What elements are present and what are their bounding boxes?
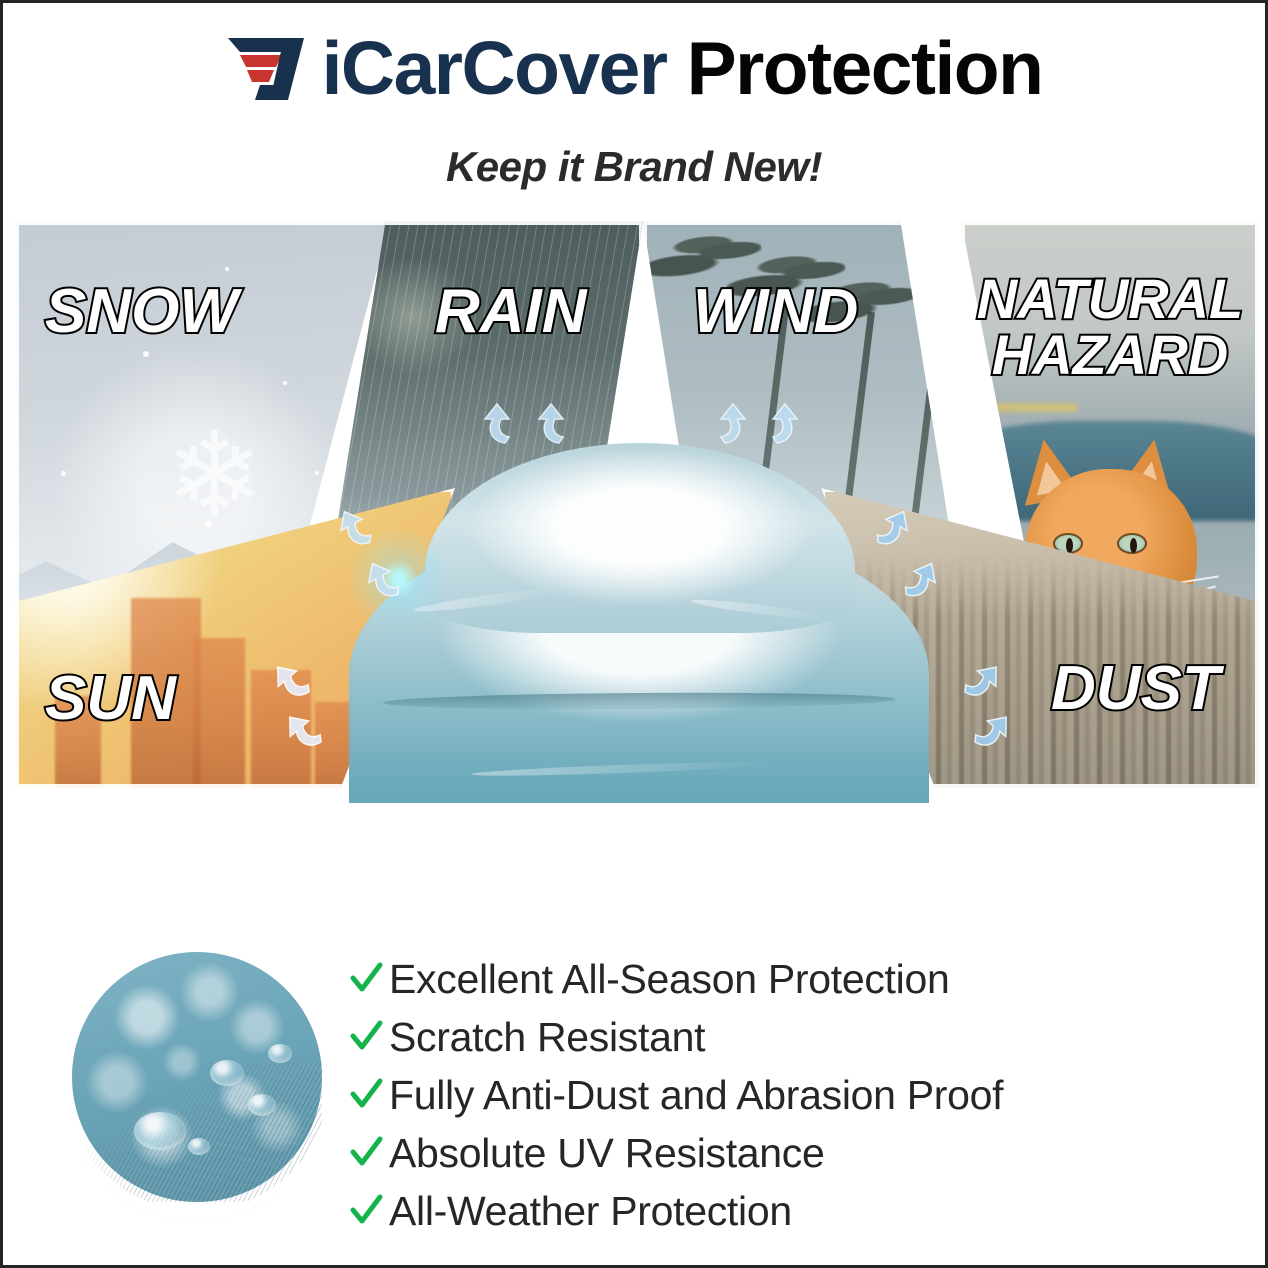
- label-sun: SUN: [45, 668, 176, 730]
- covered-car-image: [321, 435, 957, 803]
- check-icon: [343, 962, 389, 996]
- check-icon: [343, 1136, 389, 1170]
- brand-name: CarCover: [341, 31, 667, 106]
- check-icon: [343, 1078, 389, 1112]
- brand-row: i CarCover Protection: [3, 31, 1265, 106]
- feature-label: Scratch Resistant: [389, 1014, 705, 1061]
- header: i CarCover Protection Keep it Brand New!: [3, 3, 1265, 203]
- feature-label: All-Weather Protection: [389, 1188, 792, 1235]
- icarcover-wing-logo-icon: [226, 36, 318, 102]
- weather-panels-stage: ❄: [3, 203, 1268, 803]
- feature-item: Absolute UV Resistance: [343, 1127, 1203, 1179]
- feature-label: Excellent All-Season Protection: [389, 956, 949, 1003]
- label-natural-hazard: NATURAL HAZARD: [961, 271, 1259, 383]
- brand-initial: i: [322, 31, 341, 106]
- check-icon: [343, 1020, 389, 1054]
- deflection-arrow-icon: [755, 401, 801, 447]
- feature-item: Excellent All-Season Protection: [343, 953, 1203, 1005]
- feature-item: Scratch Resistant: [343, 1011, 1203, 1063]
- tagline: Keep it Brand New!: [3, 143, 1265, 191]
- features-list: Excellent All-Season Protection Scratch …: [343, 953, 1203, 1243]
- label-dust: DUST: [1051, 658, 1220, 720]
- ad-image-frame: i CarCover Protection Keep it Brand New!…: [0, 0, 1268, 1268]
- feature-label: Absolute UV Resistance: [389, 1130, 825, 1177]
- check-icon: [343, 1194, 389, 1228]
- brand-suffix: Protection: [687, 31, 1043, 106]
- feature-item: Fully Anti-Dust and Abrasion Proof: [343, 1069, 1203, 1121]
- swatch-weave-texture: [72, 1062, 322, 1202]
- swatch-fabric-image: [72, 952, 322, 1202]
- label-wind: WIND: [693, 281, 858, 343]
- label-snow: SNOW: [45, 281, 238, 343]
- feature-label: Fully Anti-Dust and Abrasion Proof: [389, 1072, 1003, 1119]
- benefits-section: Excellent All-Season Protection Scratch …: [3, 803, 1265, 1268]
- deflection-arrow-icon: [481, 401, 527, 447]
- label-hazard-line2: HAZARD: [961, 327, 1259, 383]
- deflection-arrow-icon: [535, 401, 581, 447]
- label-hazard-line1: NATURAL: [977, 267, 1243, 330]
- water-beading-swatch: [63, 943, 331, 1211]
- label-rain: RAIN: [435, 281, 587, 343]
- feature-item: All-Weather Protection: [343, 1185, 1203, 1237]
- deflection-arrow-icon: [703, 401, 749, 447]
